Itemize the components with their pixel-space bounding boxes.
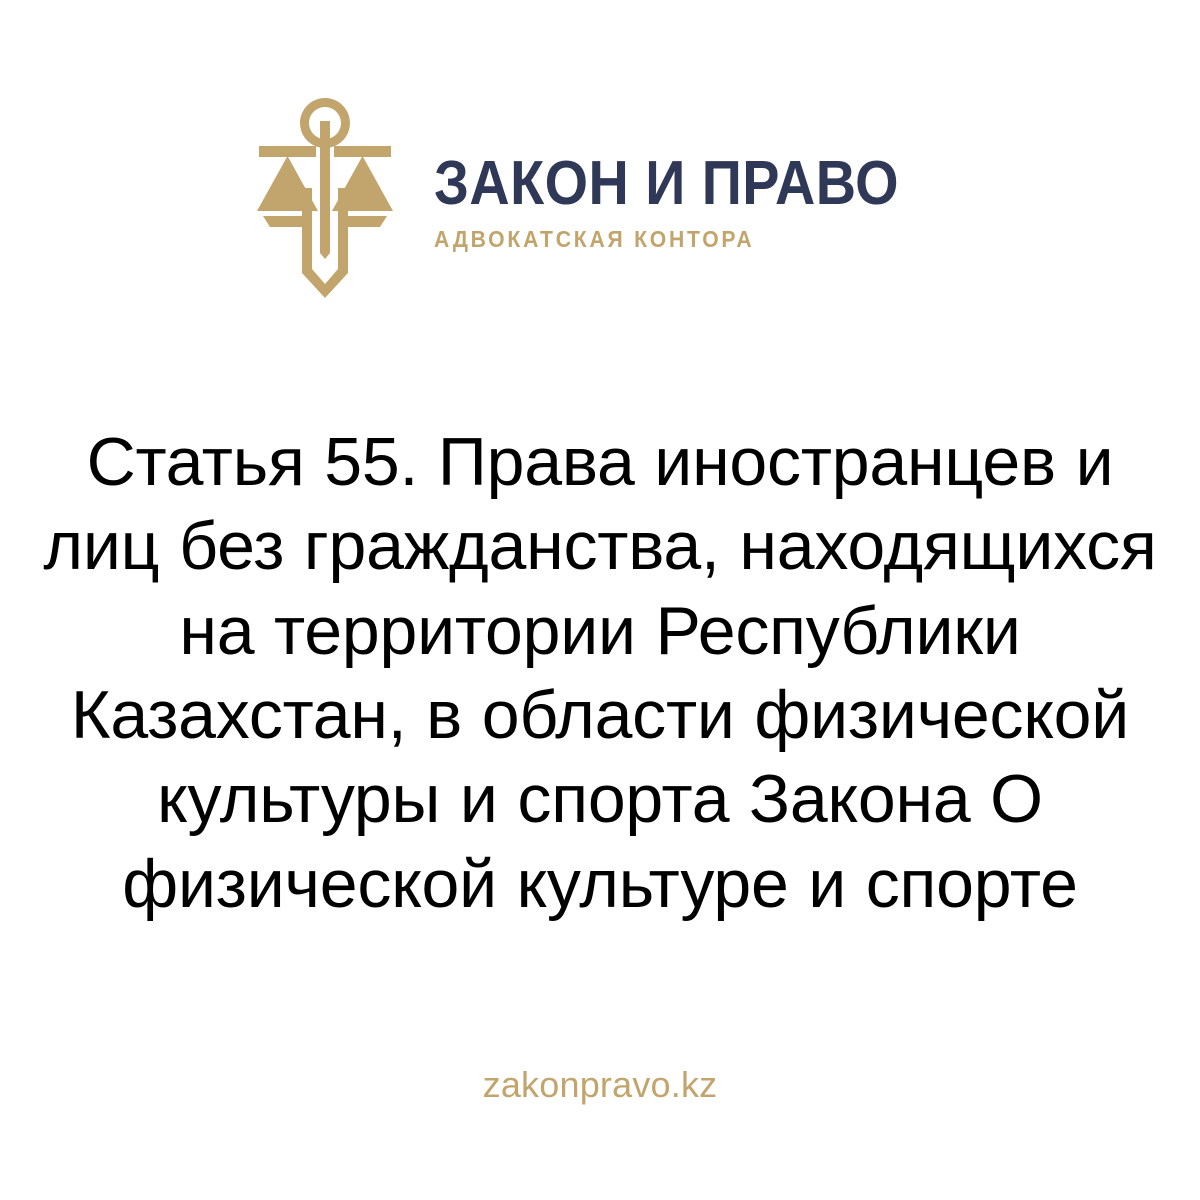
poster-canvas: ЗАКОН И ПРАВО АДВОКАТСКАЯ КОНТОРА Статья… — [0, 0, 1200, 1200]
brand-wordmark: ЗАКОН И ПРАВО АДВОКАТСКАЯ КОНТОРА — [434, 140, 951, 251]
article-headline: Статья 55. Права иностранцев и лиц без г… — [40, 420, 1160, 926]
site-url[interactable]: zakonpravo.kz — [483, 1067, 718, 1103]
brand-name: ЗАКОН И ПРАВО — [434, 154, 899, 215]
footer: zakonpravo.kz — [0, 1055, 1200, 1115]
scales-of-justice-icon — [250, 93, 400, 298]
headline-container: Статья 55. Права иностранцев и лиц без г… — [40, 420, 1160, 940]
brand-subtitle: АДВОКАТСКАЯ КОНТОРА — [434, 228, 754, 251]
brand-lockup[interactable]: ЗАКОН И ПРАВО АДВОКАТСКАЯ КОНТОРА — [0, 88, 1200, 303]
